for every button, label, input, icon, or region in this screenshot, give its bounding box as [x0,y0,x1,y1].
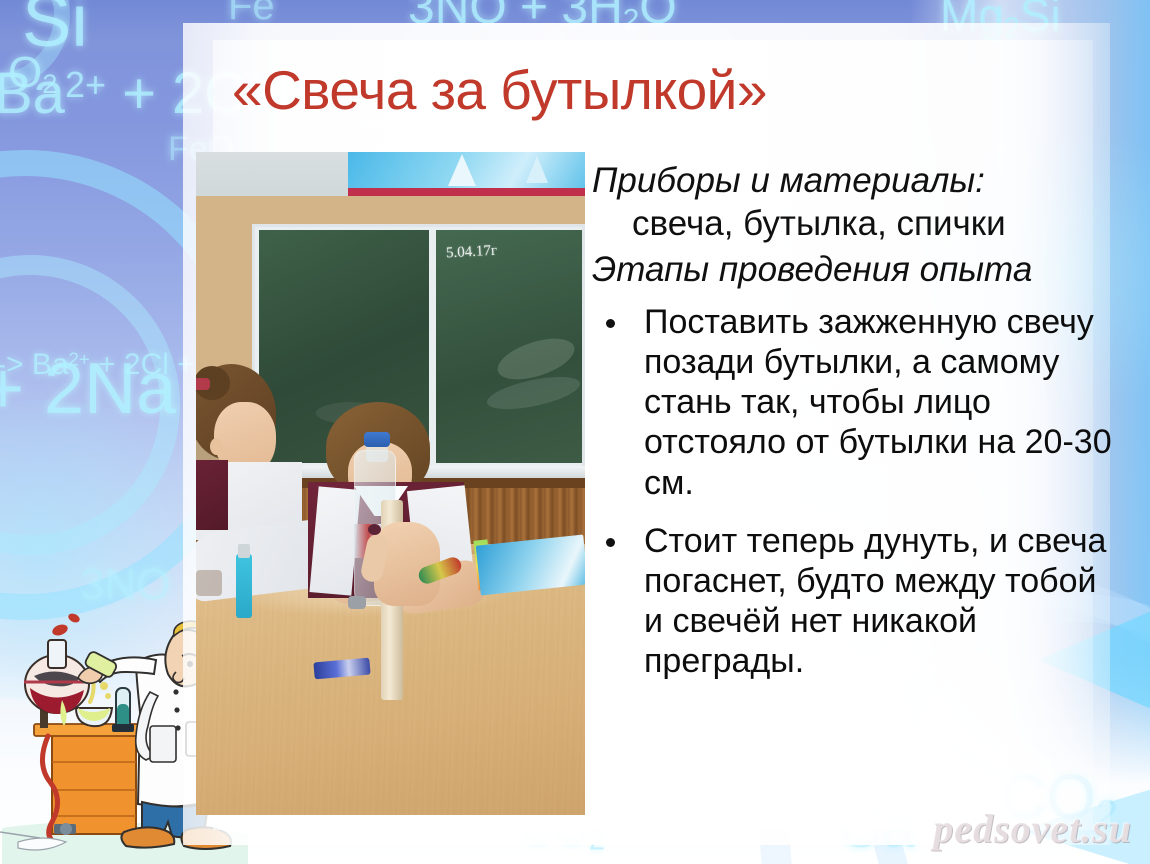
slide: Si O2 Ba2+ + 2OH Fe 3NO + 3H2O Mg2Si -->… [0,0,1150,864]
materials-list: свеча, бутылка, спички [632,203,1112,246]
list-item-text: Поставить зажженную свечу позади бутылки… [644,303,1112,501]
formula-2na: + 2Na [0,348,176,430]
materials-label: Приборы и материалы: [592,161,985,200]
watermark: pedsovet.su [933,805,1132,852]
stages-list: Поставить зажженную свечу позади бутылки… [592,302,1112,681]
list-item: Поставить зажженную свечу позади бутылки… [592,302,1112,503]
materials-block: Приборы и материалы: свеча, бутылка, спи… [592,160,1112,245]
photo-spray-bottle [236,554,252,618]
bullet-dot-icon [606,538,615,547]
slide-text-column: Приборы и материалы: свеча, бутылка, спи… [592,160,1112,699]
slide-title: «Свеча за бутылкой» [232,58,932,122]
list-item: Стоит теперь дунуть, и свеча погаснет, б… [592,521,1112,681]
photo-chalkboard-date: 5.04.17г [446,243,498,263]
list-item-text: Стоит теперь дунуть, и свеча погаснет, б… [644,522,1106,680]
photo-bottle-cap [364,432,390,447]
experiment-photo: 5.04.17г [196,152,585,815]
bullet-dot-icon [606,319,615,328]
stages-heading: Этапы проведения опыта [592,249,1112,292]
